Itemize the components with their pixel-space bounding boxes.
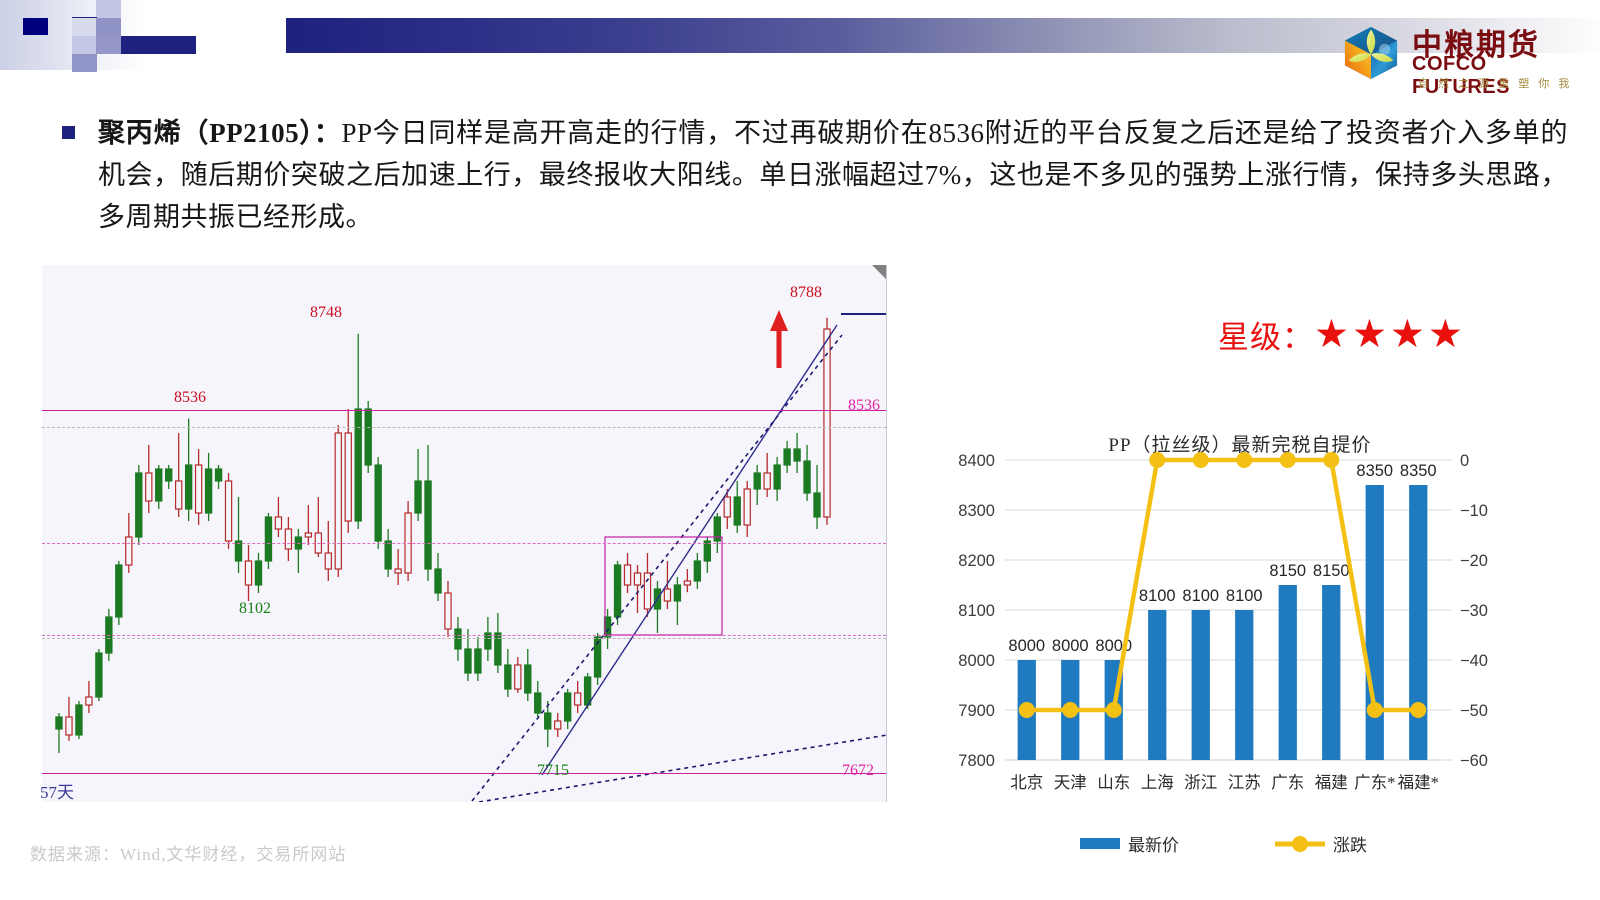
star-icons: ★★★★ — [1314, 315, 1466, 354]
svg-text:8150: 8150 — [1269, 562, 1306, 580]
commentary-lead: 聚丙烯（PP2105）： — [98, 118, 341, 148]
svg-text:−30: −30 — [1460, 602, 1488, 620]
svg-text:广东: 广东 — [1271, 773, 1304, 792]
svg-text:8100: 8100 — [1182, 587, 1219, 605]
slide-canvas: 中粮期货 COFCO FUTURES 自 然 之 源 重 塑 你 我 聚丙烯（P… — [0, 0, 1600, 900]
header-square-pale-2 — [72, 36, 97, 54]
header-square-mid-3 — [72, 54, 97, 72]
commentary-paragraph: 聚丙烯（PP2105）：PP今日同样是高开高走的行情，不过再破期价在8536附近… — [98, 112, 1568, 238]
label-last-8788: 8788 — [790, 284, 822, 302]
grid-dash-upper — [42, 427, 886, 428]
support-line-7672 — [42, 773, 886, 774]
svg-text:最新价: 最新价 — [1128, 836, 1179, 855]
svg-text:−50: −50 — [1460, 702, 1488, 720]
svg-text:浙江: 浙江 — [1184, 773, 1217, 792]
svg-text:福建: 福建 — [1315, 773, 1348, 792]
svg-text:7800: 7800 — [958, 752, 995, 770]
svg-text:8350: 8350 — [1400, 462, 1437, 480]
svg-text:8350: 8350 — [1356, 462, 1393, 480]
svg-text:广东*: 广东* — [1354, 773, 1395, 792]
grid-dash-lower-grey — [42, 638, 886, 639]
svg-text:8000: 8000 — [1052, 637, 1089, 655]
price-bar-chart[interactable]: PP（拉丝级）最新完税自提价 7800790080008100820083008… — [930, 415, 1550, 855]
logo-slogan: 自 然 之 源 重 塑 你 我 — [1418, 75, 1572, 91]
svg-text:8150: 8150 — [1313, 562, 1350, 580]
square-bullet-icon — [62, 126, 75, 139]
star-rating: 星级： ★★★★ — [1218, 312, 1466, 357]
resistance-line-8536 — [42, 410, 886, 411]
svg-text:山东: 山东 — [1097, 773, 1130, 792]
label-low-7715: 7715 — [537, 762, 569, 780]
grid-dash-mid — [42, 543, 886, 544]
cofco-logo: 中粮期货 COFCO FUTURES 自 然 之 源 重 塑 你 我 — [1340, 18, 1590, 88]
svg-text:江苏: 江苏 — [1228, 773, 1261, 792]
header-square-pale-3 — [72, 18, 96, 36]
candlestick-chart[interactable]: 8748 8536 8788 8536 8102 7715 7672 57天 — [42, 265, 887, 802]
svg-text:−60: −60 — [1460, 752, 1488, 770]
svg-text:8000: 8000 — [958, 652, 995, 670]
header-square-mid-1 — [96, 18, 121, 36]
svg-text:8100: 8100 — [1226, 587, 1263, 605]
svg-text:−40: −40 — [1460, 652, 1488, 670]
header-square-navy-1 — [23, 18, 48, 35]
svg-text:7900: 7900 — [958, 702, 995, 720]
label-high-8748: 8748 — [310, 304, 342, 322]
label-right-7672: 7672 — [842, 762, 874, 780]
data-source-note: 数据来源：Wind,文华财经，交易所网站 — [30, 840, 346, 865]
svg-text:福建*: 福建* — [1398, 773, 1439, 792]
grid-dash-lower — [42, 635, 886, 636]
svg-text:8300: 8300 — [958, 502, 995, 520]
cofco-cube-icon — [1340, 22, 1402, 84]
label-period-days: 57天 — [40, 778, 74, 803]
label-low-8102: 8102 — [239, 600, 271, 618]
svg-text:8100: 8100 — [958, 602, 995, 620]
candlestick-plot — [42, 265, 887, 802]
svg-text:北京: 北京 — [1010, 773, 1043, 792]
svg-text:上海: 上海 — [1141, 773, 1174, 792]
label-platform-8536: 8536 — [174, 389, 206, 407]
svg-text:8000: 8000 — [1008, 637, 1045, 655]
bar-chart-plot: 7800790080008100820083008400−60−50−40−30… — [930, 415, 1550, 855]
svg-text:涨跌: 涨跌 — [1333, 836, 1367, 855]
svg-text:8200: 8200 — [958, 552, 995, 570]
header-square-mid-2 — [96, 36, 121, 54]
svg-text:8100: 8100 — [1139, 587, 1176, 605]
label-right-8536: 8536 — [848, 397, 880, 415]
svg-text:−10: −10 — [1460, 502, 1488, 520]
svg-text:−20: −20 — [1460, 552, 1488, 570]
svg-text:天津: 天津 — [1054, 773, 1087, 792]
svg-text:8400: 8400 — [958, 452, 995, 470]
star-rating-label: 星级： — [1218, 312, 1314, 357]
svg-text:0: 0 — [1460, 452, 1469, 470]
header-square-pale-1 — [96, 0, 121, 18]
